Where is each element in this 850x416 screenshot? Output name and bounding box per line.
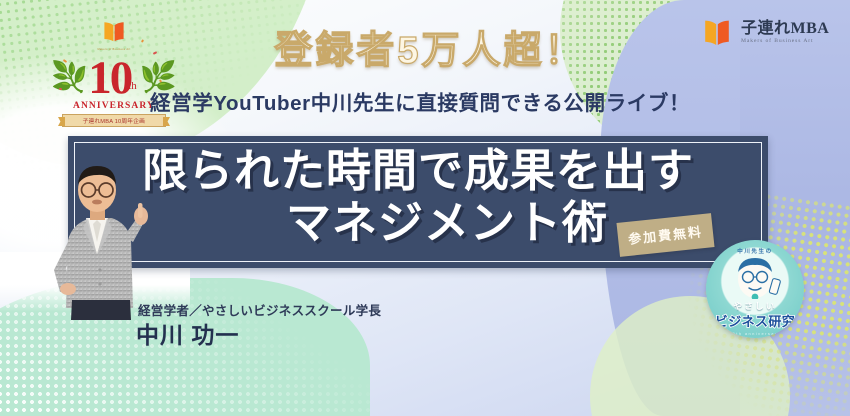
- confetti-speck: [59, 88, 62, 91]
- main-title-line1: 限られた時間で成果を出す: [68, 136, 768, 197]
- corporate-logo: 子連れMBA Makers of Business Art: [700, 20, 829, 46]
- anniversary-emblem: Makers of Business Art 🌿 10 th 🌿 ANNIVER…: [55, 22, 173, 134]
- corporate-logo-tagline: Makers of Business Art: [741, 39, 829, 45]
- anniversary-number: 10: [88, 55, 131, 102]
- corporate-logo-name: 子連れMBA: [741, 21, 829, 37]
- speaker-name: 中川 功一: [136, 316, 239, 350]
- anniversary-ribbon-text: 子連れMBA 10周年企画: [83, 116, 145, 125]
- badge-footer: 10th anniversary: [706, 331, 804, 336]
- event-banner: Makers of Business Art 🌿 10 th 🌿 ANNIVER…: [0, 0, 850, 416]
- event-details-bar: 7.14 月 12:10-12:50 zoom アーカイブあり: [0, 352, 850, 408]
- corporate-logo-text: 子連れMBA Makers of Business Art: [741, 21, 829, 45]
- anniversary-ordinal: th: [128, 80, 137, 92]
- sub-headline: 経営学YouTuber中川先生に直接質問できる公開ライブ！: [150, 86, 680, 116]
- badge-line2: ビジネス研究: [706, 311, 804, 330]
- kicker-headline: 登録者5万人超！: [170, 32, 690, 72]
- badge-face-icon: [724, 255, 786, 299]
- laurel-left-icon: 🌿: [51, 63, 88, 93]
- yasashii-business-badge: 中川先生の やさしい ビジネス研究 10th anniversary: [706, 240, 804, 338]
- open-book-icon: [700, 20, 734, 46]
- book-icon: [99, 22, 129, 42]
- confetti-speck: [141, 39, 144, 43]
